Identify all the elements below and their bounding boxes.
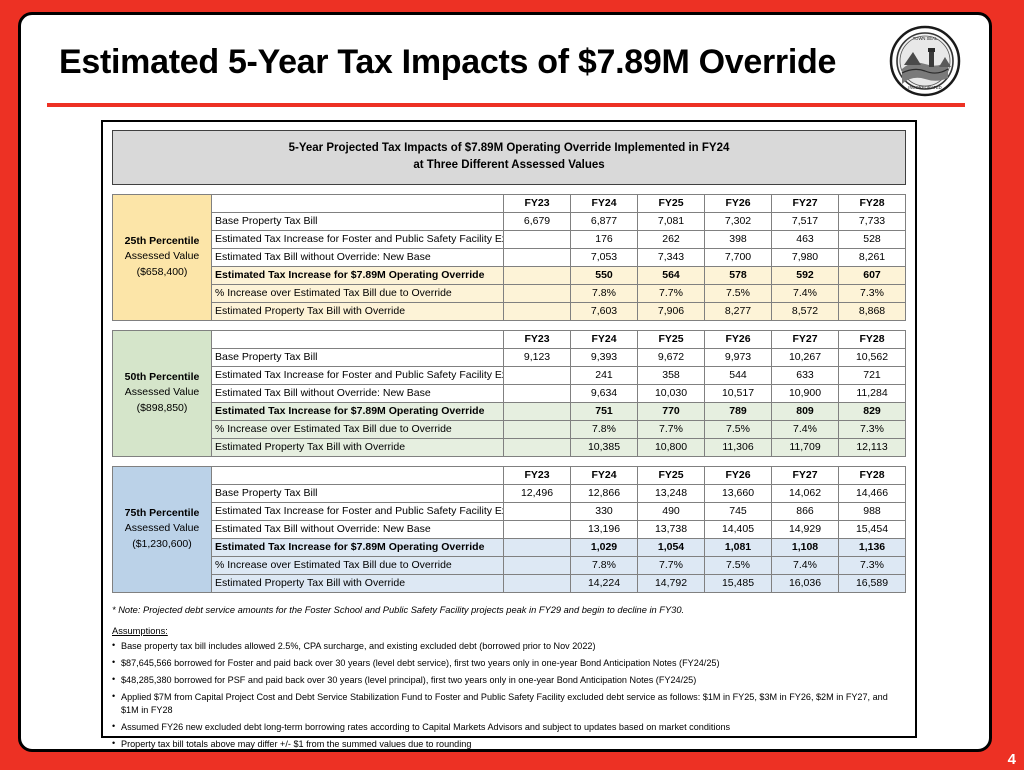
svg-text:TOWN SEAL: TOWN SEAL [913, 36, 938, 41]
row-label: Estimated Tax Bill without Override: New… [212, 520, 504, 538]
table-row: Estimated Tax Increase for $7.89M Operat… [113, 266, 906, 284]
cell-fy25: 14,792 [638, 574, 705, 592]
svg-text:INCORPORATED: INCORPORATED [908, 85, 941, 90]
cell-fy28: 721 [839, 366, 906, 384]
assumption-item: $87,645,566 borrowed for Foster and paid… [112, 657, 906, 669]
cell-fy26: 8,277 [705, 302, 772, 320]
tax-impact-table-container: 5-Year Projected Tax Impacts of $7.89M O… [101, 120, 917, 738]
cell-fy28: 988 [839, 502, 906, 520]
cell-fy27: 10,267 [772, 348, 839, 366]
cell-fy26: 745 [705, 502, 772, 520]
cell-fy25: 7.7% [638, 284, 705, 302]
assumption-item: Assumed FY26 new excluded debt long-term… [112, 721, 906, 733]
cell-fy28: 1,136 [839, 538, 906, 556]
cell-fy24: 7.8% [571, 556, 638, 574]
page-title: Estimated 5-Year Tax Impacts of $7.89M O… [59, 43, 836, 82]
assumption-item: Property tax bill totals above may diffe… [112, 738, 906, 750]
cell-fy23 [504, 574, 571, 592]
table-row: Estimated Tax Bill without Override: New… [113, 384, 906, 402]
cell-fy23 [504, 384, 571, 402]
cell-fy23 [504, 538, 571, 556]
cell-fy28: 7.3% [839, 420, 906, 438]
cell-fy25: 7,906 [638, 302, 705, 320]
cell-fy28: 12,113 [839, 438, 906, 456]
row-label: % Increase over Estimated Tax Bill due t… [212, 556, 504, 574]
cell-fy24: 7.8% [571, 284, 638, 302]
assessed-value-label: Assessed Value [116, 521, 208, 536]
cell-fy28: 10,562 [839, 348, 906, 366]
cell-fy28: 8,261 [839, 248, 906, 266]
cell-fy24: 6,877 [571, 212, 638, 230]
table-row: Estimated Tax Increase for $7.89M Operat… [113, 538, 906, 556]
cell-fy27: 8,572 [772, 302, 839, 320]
assessed-value-label: Assessed Value [116, 249, 208, 264]
cell-fy25: 564 [638, 266, 705, 284]
table-row: % Increase over Estimated Tax Bill due t… [113, 556, 906, 574]
table-row: Estimated Property Tax Bill with Overrid… [113, 438, 906, 456]
cell-fy27: 14,062 [772, 484, 839, 502]
cell-fy26: 14,405 [705, 520, 772, 538]
cell-fy26: 578 [705, 266, 772, 284]
cell-fy24: 241 [571, 366, 638, 384]
assumption-item: Applied $7M from Capital Project Cost an… [112, 691, 906, 716]
percentile-block-25th-percentile: 25th PercentileAssessed Value($658,400) … [112, 194, 906, 321]
row-label: Estimated Tax Increase for $7.89M Operat… [212, 538, 504, 556]
cell-fy24: 12,866 [571, 484, 638, 502]
cell-fy23 [504, 266, 571, 284]
cell-fy23 [504, 302, 571, 320]
cell-fy27: 7.4% [772, 284, 839, 302]
table-row: Estimated Tax Increase for Foster and Pu… [113, 230, 906, 248]
cell-fy25: 262 [638, 230, 705, 248]
cell-fy24: 550 [571, 266, 638, 284]
cell-fy26: 398 [705, 230, 772, 248]
cell-fy27: 10,900 [772, 384, 839, 402]
page-number: 4 [1008, 751, 1016, 768]
cell-fy26: 11,306 [705, 438, 772, 456]
table-header-row: 25th PercentileAssessed Value($658,400) … [113, 194, 906, 212]
cell-fy23 [504, 248, 571, 266]
row-label: Base Property Tax Bill [212, 212, 504, 230]
row-label: Estimated Tax Increase for $7.89M Operat… [212, 266, 504, 284]
percentile-category-cell: 50th PercentileAssessed Value($898,850) [113, 330, 212, 456]
cell-fy25: 358 [638, 366, 705, 384]
cell-fy25: 7,343 [638, 248, 705, 266]
cell-fy25: 7.7% [638, 420, 705, 438]
table-row: Estimated Tax Bill without Override: New… [113, 248, 906, 266]
cell-fy27: 633 [772, 366, 839, 384]
row-label: Estimated Tax Bill without Override: New… [212, 384, 504, 402]
cell-fy28: 15,454 [839, 520, 906, 538]
cell-fy28: 7.3% [839, 284, 906, 302]
cell-fy26: 7,700 [705, 248, 772, 266]
year-header-fy23: FY23 [504, 466, 571, 484]
table-row: % Increase over Estimated Tax Bill due t… [113, 284, 906, 302]
assumption-item: Base property tax bill includes allowed … [112, 640, 906, 652]
year-header-fy24: FY24 [571, 330, 638, 348]
cell-fy27: 1,108 [772, 538, 839, 556]
table-banner: 5-Year Projected Tax Impacts of $7.89M O… [112, 130, 906, 185]
row-label: % Increase over Estimated Tax Bill due t… [212, 284, 504, 302]
row-label: Estimated Property Tax Bill with Overrid… [212, 574, 504, 592]
assessed-value-amount: ($1,230,600) [116, 537, 208, 552]
table-row: Base Property Tax Bill9,1239,3939,6729,9… [113, 348, 906, 366]
cell-fy26: 10,517 [705, 384, 772, 402]
year-header-fy26: FY26 [705, 194, 772, 212]
cell-fy28: 11,284 [839, 384, 906, 402]
cell-fy24: 176 [571, 230, 638, 248]
year-header-fy27: FY27 [772, 466, 839, 484]
cell-fy27: 16,036 [772, 574, 839, 592]
row-label: Base Property Tax Bill [212, 348, 504, 366]
cell-fy28: 8,868 [839, 302, 906, 320]
percentile-block-75th-percentile: 75th PercentileAssessed Value($1,230,600… [112, 466, 906, 593]
cell-fy27: 463 [772, 230, 839, 248]
year-header-fy25: FY25 [638, 330, 705, 348]
cell-fy28: 607 [839, 266, 906, 284]
cell-fy25: 10,800 [638, 438, 705, 456]
cell-fy26: 789 [705, 402, 772, 420]
row-label: Estimated Tax Increase for $7.89M Operat… [212, 402, 504, 420]
percentile-label: 50th Percentile [116, 370, 208, 385]
row-label: Estimated Property Tax Bill with Overrid… [212, 302, 504, 320]
cell-fy26: 544 [705, 366, 772, 384]
cell-fy25: 7,081 [638, 212, 705, 230]
header-label-spacer [212, 194, 504, 212]
cell-fy23 [504, 366, 571, 384]
header-label-spacer [212, 466, 504, 484]
percentile-category-cell: 25th PercentileAssessed Value($658,400) [113, 194, 212, 320]
row-label: Estimated Tax Bill without Override: New… [212, 248, 504, 266]
cell-fy23 [504, 402, 571, 420]
cell-fy28: 16,589 [839, 574, 906, 592]
cell-fy24: 330 [571, 502, 638, 520]
cell-fy24: 7,603 [571, 302, 638, 320]
cell-fy25: 9,672 [638, 348, 705, 366]
cell-fy24: 1,029 [571, 538, 638, 556]
assessed-value-label: Assessed Value [116, 385, 208, 400]
cell-fy25: 13,248 [638, 484, 705, 502]
cell-fy26: 7.5% [705, 556, 772, 574]
year-header-fy24: FY24 [571, 194, 638, 212]
table-row: Estimated Tax Bill without Override: New… [113, 520, 906, 538]
cell-fy25: 770 [638, 402, 705, 420]
percentile-block-50th-percentile: 50th PercentileAssessed Value($898,850) … [112, 330, 906, 457]
cell-fy26: 1,081 [705, 538, 772, 556]
cell-fy23 [504, 556, 571, 574]
percentile-category-cell: 75th PercentileAssessed Value($1,230,600… [113, 466, 212, 592]
slide-canvas: Estimated 5-Year Tax Impacts of $7.89M O… [18, 12, 992, 752]
row-label: Base Property Tax Bill [212, 484, 504, 502]
cell-fy24: 9,393 [571, 348, 638, 366]
cell-fy27: 11,709 [772, 438, 839, 456]
cell-fy28: 528 [839, 230, 906, 248]
year-header-fy23: FY23 [504, 194, 571, 212]
cell-fy23 [504, 438, 571, 456]
cell-fy24: 13,196 [571, 520, 638, 538]
assessed-value-amount: ($898,850) [116, 401, 208, 416]
row-label: % Increase over Estimated Tax Bill due t… [212, 420, 504, 438]
cell-fy24: 10,385 [571, 438, 638, 456]
year-header-fy24: FY24 [571, 466, 638, 484]
year-header-fy26: FY26 [705, 466, 772, 484]
table-row: Estimated Tax Increase for Foster and Pu… [113, 366, 906, 384]
cell-fy27: 14,929 [772, 520, 839, 538]
cell-fy25: 7.7% [638, 556, 705, 574]
cell-fy27: 592 [772, 266, 839, 284]
cell-fy24: 14,224 [571, 574, 638, 592]
cell-fy27: 7,517 [772, 212, 839, 230]
row-label: Estimated Property Tax Bill with Overrid… [212, 438, 504, 456]
assumptions-list: Base property tax bill includes allowed … [112, 640, 906, 751]
cell-fy27: 7.4% [772, 556, 839, 574]
percentile-label: 75th Percentile [116, 506, 208, 521]
banner-line-1: 5-Year Projected Tax Impacts of $7.89M O… [117, 140, 901, 157]
year-header-fy27: FY27 [772, 194, 839, 212]
year-header-fy27: FY27 [772, 330, 839, 348]
year-header-fy26: FY26 [705, 330, 772, 348]
assessed-value-amount: ($658,400) [116, 265, 208, 280]
year-header-fy28: FY28 [839, 194, 906, 212]
percentile-blocks: 25th PercentileAssessed Value($658,400) … [112, 194, 906, 593]
row-label: Estimated Tax Increase for Foster and Pu… [212, 366, 504, 384]
percentile-label: 25th Percentile [116, 234, 208, 249]
cell-fy27: 7,980 [772, 248, 839, 266]
year-header-fy25: FY25 [638, 194, 705, 212]
year-header-fy28: FY28 [839, 330, 906, 348]
cell-fy23 [504, 520, 571, 538]
table-row: Estimated Tax Increase for $7.89M Operat… [113, 402, 906, 420]
assumption-item: $48,285,380 borrowed for PSF and paid ba… [112, 674, 906, 686]
cell-fy25: 10,030 [638, 384, 705, 402]
year-header-fy23: FY23 [504, 330, 571, 348]
cell-fy23 [504, 502, 571, 520]
cell-fy23: 9,123 [504, 348, 571, 366]
cell-fy27: 809 [772, 402, 839, 420]
cell-fy24: 9,634 [571, 384, 638, 402]
cell-fy26: 7.5% [705, 420, 772, 438]
cell-fy24: 7,053 [571, 248, 638, 266]
cell-fy26: 13,660 [705, 484, 772, 502]
banner-line-2: at Three Different Assessed Values [117, 157, 901, 174]
cell-fy23 [504, 230, 571, 248]
assumptions-heading: Assumptions: [112, 626, 906, 636]
row-label: Estimated Tax Increase for Foster and Pu… [212, 230, 504, 248]
table-row: Base Property Tax Bill6,6796,8777,0817,3… [113, 212, 906, 230]
footnote: * Note: Projected debt service amounts f… [112, 605, 906, 615]
cell-fy28: 829 [839, 402, 906, 420]
cell-fy27: 866 [772, 502, 839, 520]
table-header-row: 50th PercentileAssessed Value($898,850) … [113, 330, 906, 348]
year-header-fy25: FY25 [638, 466, 705, 484]
cell-fy24: 751 [571, 402, 638, 420]
cell-fy27: 7.4% [772, 420, 839, 438]
cell-fy28: 14,466 [839, 484, 906, 502]
cell-fy24: 7.8% [571, 420, 638, 438]
cell-fy28: 7.3% [839, 556, 906, 574]
table-row: % Increase over Estimated Tax Bill due t… [113, 420, 906, 438]
cell-fy23: 12,496 [504, 484, 571, 502]
cell-fy26: 9,973 [705, 348, 772, 366]
cell-fy23 [504, 420, 571, 438]
cell-fy23 [504, 284, 571, 302]
cell-fy28: 7,733 [839, 212, 906, 230]
cell-fy25: 13,738 [638, 520, 705, 538]
table-row: Estimated Tax Increase for Foster and Pu… [113, 502, 906, 520]
cell-fy23: 6,679 [504, 212, 571, 230]
title-divider [47, 103, 965, 107]
year-header-fy28: FY28 [839, 466, 906, 484]
table-header-row: 75th PercentileAssessed Value($1,230,600… [113, 466, 906, 484]
cell-fy26: 7,302 [705, 212, 772, 230]
table-row: Estimated Property Tax Bill with Overrid… [113, 574, 906, 592]
town-seal-icon: TOWN SEAL INCORPORATED [889, 25, 961, 97]
table-row: Estimated Property Tax Bill with Overrid… [113, 302, 906, 320]
cell-fy26: 7.5% [705, 284, 772, 302]
cell-fy25: 490 [638, 502, 705, 520]
header-label-spacer [212, 330, 504, 348]
cell-fy26: 15,485 [705, 574, 772, 592]
cell-fy25: 1,054 [638, 538, 705, 556]
row-label: Estimated Tax Increase for Foster and Pu… [212, 502, 504, 520]
table-row: Base Property Tax Bill12,49612,86613,248… [113, 484, 906, 502]
